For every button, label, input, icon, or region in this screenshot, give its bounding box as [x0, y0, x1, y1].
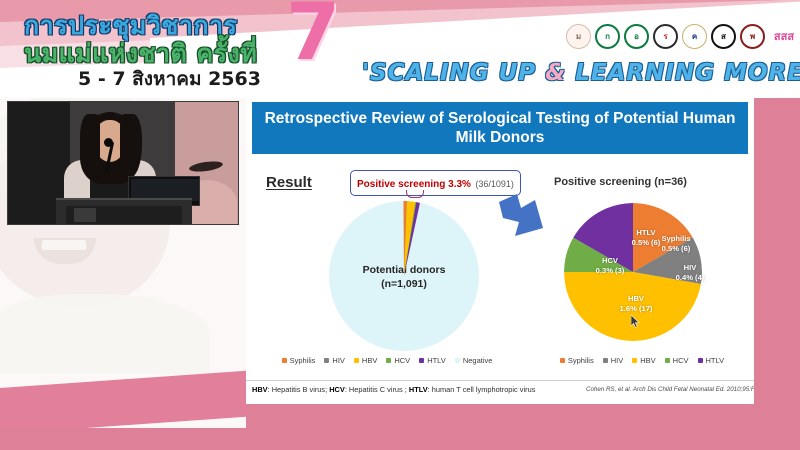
- legend-swatch-htlv: [419, 358, 424, 363]
- pie-left-subtitle: (n=1,091): [329, 277, 479, 291]
- legend-swatch-syphilis: [282, 358, 287, 363]
- legend2-swatch-hbv: [632, 358, 637, 363]
- tagline-part2: LEARNING MORE': [566, 60, 800, 86]
- source-citation: Cohen RS, et al. Arch Dis Child Fetal Ne…: [586, 386, 754, 393]
- legend-item-negative[interactable]: Negative: [455, 356, 493, 365]
- pie-label-syphilis: Syphilis0.5% (6): [648, 234, 704, 254]
- callout-brace: [406, 190, 424, 198]
- legend-item-hbv[interactable]: HBV: [354, 356, 377, 365]
- potential-donors-pie[interactable]: Potential donors (n=1,091): [329, 201, 479, 351]
- health-department-logo: อ: [624, 24, 649, 49]
- result-label: Result: [266, 174, 312, 191]
- legend2-swatch-syphilis: [560, 358, 565, 363]
- legend-item-syphilis[interactable]: Syphilis: [282, 356, 316, 365]
- thaihealth-sss-logo: สสส: [769, 24, 799, 49]
- microphone-head: [104, 138, 113, 147]
- tagline-ampersand: &: [545, 60, 566, 86]
- legend2-item-hiv[interactable]: HIV: [603, 356, 624, 365]
- tagline-part1: 'SCALING UP: [362, 60, 545, 86]
- legend-swatch-hcv: [386, 358, 391, 363]
- conference-header-banner: การประชุมวิชาการ นมแม่แห่งชาติ ครั้งที่ …: [0, 0, 800, 98]
- podium-logo: [74, 208, 96, 222]
- legend-item-hiv[interactable]: HIV: [324, 356, 345, 365]
- legend-potential-donors: Syphilis HIV HBV HCV HTLV Negative: [272, 356, 502, 365]
- speaker-video-feed[interactable]: [7, 101, 239, 225]
- presentation-screen: การประชุมวิชาการ นมแม่แห่งชาติ ครั้งที่ …: [0, 0, 800, 450]
- slide-title: Retrospective Review of Serological Test…: [252, 102, 748, 154]
- legend-positive-screening: Syphilis HIV HBV HCV HTLV: [542, 356, 742, 365]
- video-baby-eye: [189, 160, 224, 174]
- legend-swatch-hiv: [324, 358, 329, 363]
- speaker-hair-left: [80, 114, 100, 172]
- transition-arrow-icon: [495, 188, 551, 244]
- pie-label-hcv: HCV0.3% (3): [586, 256, 634, 276]
- sponsor-logo-row: ม ก อ ร ค ส พ สสส: [566, 24, 799, 49]
- legend2-item-htlv[interactable]: HTLV: [698, 356, 725, 365]
- legend-item-hcv[interactable]: HCV: [386, 356, 410, 365]
- slide-content: Retrospective Review of Serological Test…: [246, 98, 754, 404]
- medical-council-logo: พ: [740, 24, 765, 49]
- speaker-hair-right: [120, 114, 142, 176]
- ministry-public-health-logo: ก: [595, 24, 620, 49]
- mouse-cursor-icon: [631, 315, 640, 328]
- legend2-swatch-hcv: [665, 358, 670, 363]
- legend2-item-hbv[interactable]: HBV: [632, 356, 655, 365]
- conference-tagline: 'SCALING UP & LEARNING MORE': [362, 60, 800, 86]
- callout-main-text: Positive screening 3.3%: [357, 179, 471, 190]
- pie-right-title: Positive screening (n=36): [554, 176, 687, 188]
- legend-swatch-hbv: [354, 358, 359, 363]
- conference-edition-number: 7: [286, 0, 340, 72]
- legend2-swatch-hiv: [603, 358, 608, 363]
- abbreviation-footnote: HBV: Hepatitis B virus; HCV: Hepatitis C…: [252, 385, 535, 394]
- breastfeeding-foundation-logo: ม: [566, 24, 591, 49]
- conference-date: 5 - 7 สิงหาคม 2563: [78, 64, 261, 94]
- legend2-swatch-htlv: [698, 358, 703, 363]
- royal-crest-logo: ค: [682, 24, 707, 49]
- legend2-item-syphilis[interactable]: Syphilis: [560, 356, 594, 365]
- pie-label-hbv: HBV1.6% (17): [608, 294, 664, 314]
- royal-emblem-logo: ร: [653, 24, 678, 49]
- pie-label-hiv: HIV0.4% (4): [666, 263, 714, 283]
- legend2-item-hcv[interactable]: HCV: [665, 356, 689, 365]
- legend-item-htlv[interactable]: HTLV: [419, 356, 446, 365]
- national-institute-logo: ส: [711, 24, 736, 49]
- legend-swatch-negative: [455, 358, 460, 363]
